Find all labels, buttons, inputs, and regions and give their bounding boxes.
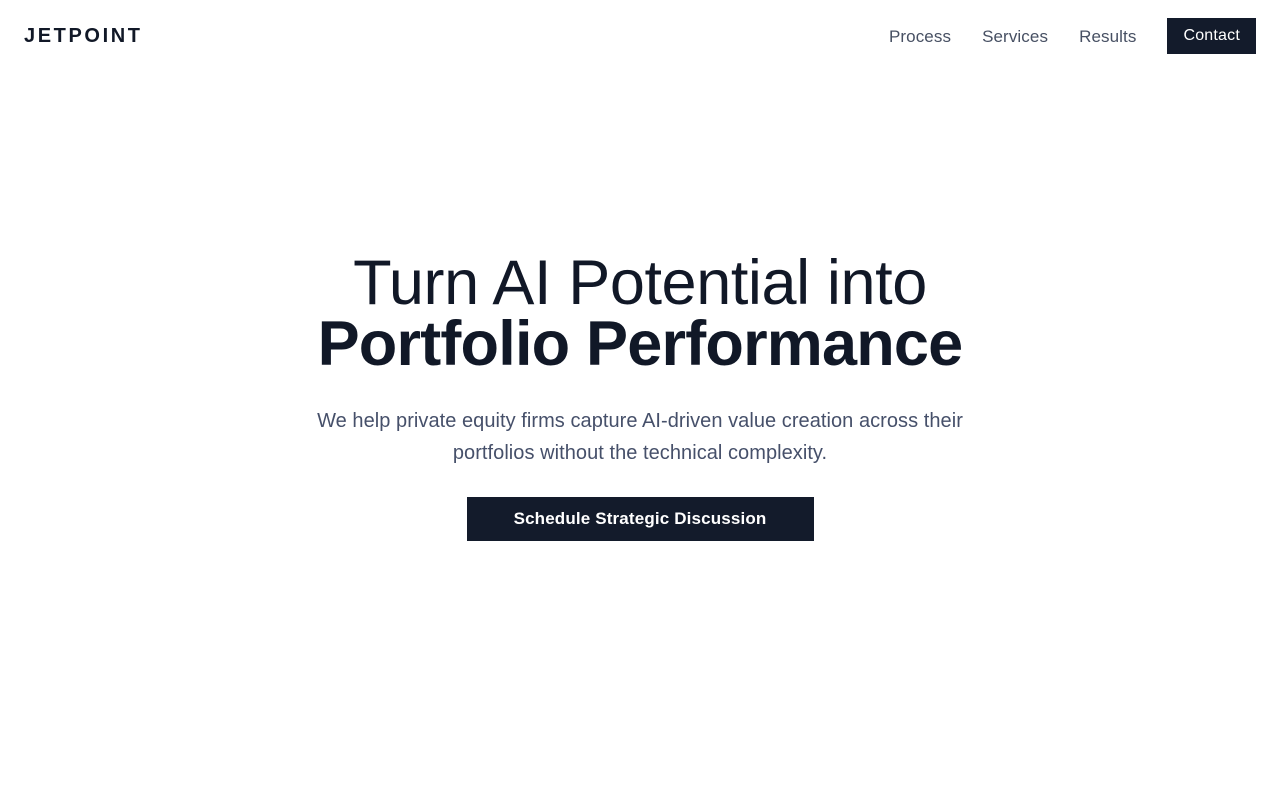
brand-logo[interactable]: JETPOINT — [24, 26, 143, 46]
contact-button[interactable]: Contact — [1167, 18, 1256, 54]
hero-headline: Turn AI Potential into Portfolio Perform… — [140, 253, 1140, 375]
schedule-strategic-discussion-button[interactable]: Schedule Strategic Discussion — [467, 497, 814, 541]
nav-link-results[interactable]: Results — [1079, 28, 1136, 45]
primary-navigation: Process Services Results Contact — [889, 18, 1256, 54]
landing-page: JETPOINT Process Services Results Contac… — [0, 0, 1280, 800]
nav-link-services[interactable]: Services — [982, 28, 1048, 45]
site-header: JETPOINT Process Services Results Contac… — [0, 0, 1280, 72]
hero-subtitle: We help private equity firms capture AI-… — [278, 405, 1002, 469]
nav-link-process[interactable]: Process — [889, 28, 951, 45]
hero-section: Turn AI Potential into Portfolio Perform… — [0, 72, 1280, 800]
hero-headline-line-2: Portfolio Performance — [140, 314, 1140, 375]
hero-headline-line-1: Turn AI Potential into — [140, 253, 1140, 314]
